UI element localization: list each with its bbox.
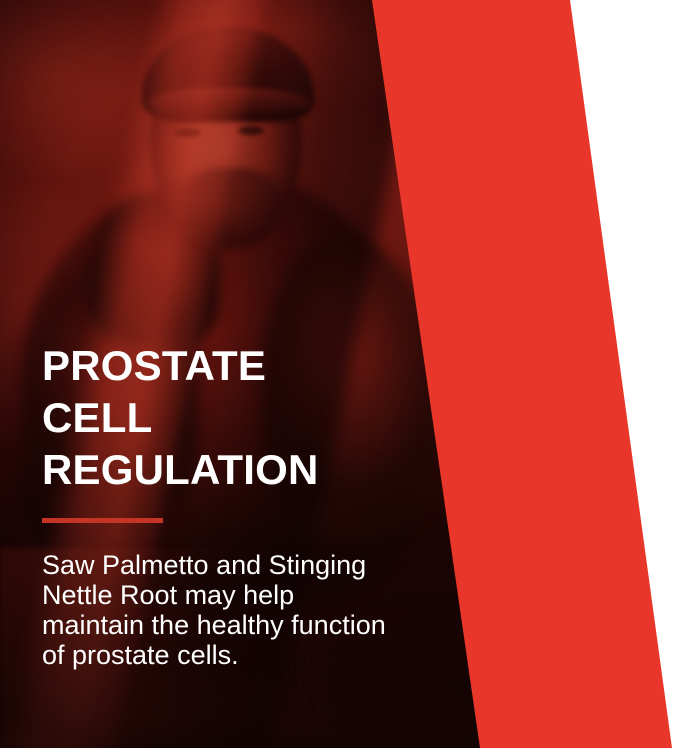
product-benefit-banner: PROSTATE CELL REGULATION Saw Palmetto an… (0, 0, 679, 748)
headline-line-3: REGULATION (42, 444, 442, 496)
body-copy: Saw Palmetto and Stinging Nettle Root ma… (42, 550, 402, 670)
headline-line-2: CELL (42, 392, 442, 444)
copy-block: PROSTATE CELL REGULATION Saw Palmetto an… (42, 340, 442, 670)
page-title: PROSTATE CELL REGULATION (42, 340, 442, 496)
accent-rule (42, 518, 163, 523)
headline-line-1: PROSTATE (42, 340, 442, 392)
